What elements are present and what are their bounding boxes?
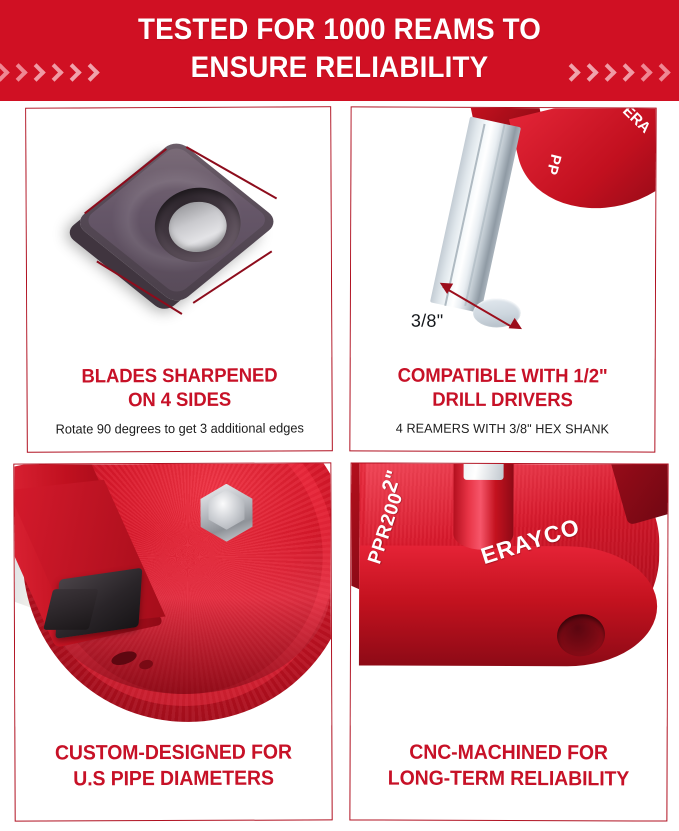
chevron-right-icon — [599, 62, 616, 86]
card-subtitle: Rotate 90 degrees to get 3 additional ed… — [38, 419, 321, 437]
card-subtitle: 4 REAMERS WITH 3/8" HEX SHANK — [361, 419, 644, 437]
feature-card-cnc-machined: 2" PPR200 ERAYCO CNC-MACHINED FOR LONG-T… — [349, 462, 668, 821]
card-caption: CNC-MACHINED FOR LONG-TERM RELIABILITY — [350, 739, 666, 792]
card-title: CUSTOM-DESIGNED FOR U.S PIPE DIAMETERS — [29, 739, 318, 792]
card-title: COMPATIBLE WITH 1/2" DRILL DRIVERS — [364, 363, 642, 412]
hex-shank-illustration: PP ERA 3/8" — [351, 107, 656, 358]
chevron-decoration-right — [563, 62, 670, 86]
reamer-body-illustration: 2" PPR200 ERAYCO — [351, 463, 668, 726]
reamer-body-front-face — [359, 545, 657, 666]
card-title: BLADES SHARPENED ON 4 SIDES — [41, 363, 319, 412]
feature-card-drill-compatible: PP ERA 3/8" COMPATIBLE WITH 1/2" DRILL D… — [349, 106, 656, 452]
chevron-right-icon — [653, 62, 670, 86]
tool-engraving-model-partial: PP — [543, 152, 565, 177]
carbide-insert-illustration — [76, 127, 289, 333]
feature-card-grid: BLADES SHARPENED ON 4 SIDES Rotate 90 de… — [0, 101, 679, 831]
card-title: CNC-MACHINED FOR LONG-TERM RELIABILITY — [364, 739, 653, 792]
dimension-label: 3/8" — [411, 311, 444, 332]
tool-head-red-body: PP ERA — [509, 107, 656, 226]
product-photo-hex-shank: PP ERA 3/8" — [351, 107, 656, 358]
product-photo-carbide-insert — [26, 107, 331, 358]
card-caption: BLADES SHARPENED ON 4 SIDES Rotate 90 de… — [27, 363, 331, 437]
card-caption: CUSTOM-DESIGNED FOR U.S PIPE DIAMETERS — [15, 739, 331, 792]
chevron-right-icon — [617, 62, 634, 86]
product-photo-reamer-body: 2" PPR200 ERAYCO — [351, 463, 668, 726]
chevron-right-icon — [581, 62, 598, 86]
chevron-right-icon — [563, 62, 580, 86]
card-caption: COMPATIBLE WITH 1/2" DRILL DRIVERS 4 REA… — [350, 363, 654, 437]
tool-engraving-brand-partial: ERA — [619, 107, 654, 136]
reamer-shaft-chrome-tip — [464, 463, 504, 480]
product-photo-reamer-closeup — [14, 463, 331, 726]
chevron-right-icon — [0, 62, 9, 86]
header-banner: TESTED FOR 1000 REAMS TO ENSURE RELIABIL… — [0, 0, 679, 101]
reamer-closeup-illustration — [14, 463, 331, 726]
chevron-right-icon — [635, 62, 652, 86]
feature-card-blades-sharpened: BLADES SHARPENED ON 4 SIDES Rotate 90 de… — [25, 106, 333, 452]
feature-card-us-pipe-diameters: CUSTOM-DESIGNED FOR U.S PIPE DIAMETERS — [13, 462, 332, 821]
